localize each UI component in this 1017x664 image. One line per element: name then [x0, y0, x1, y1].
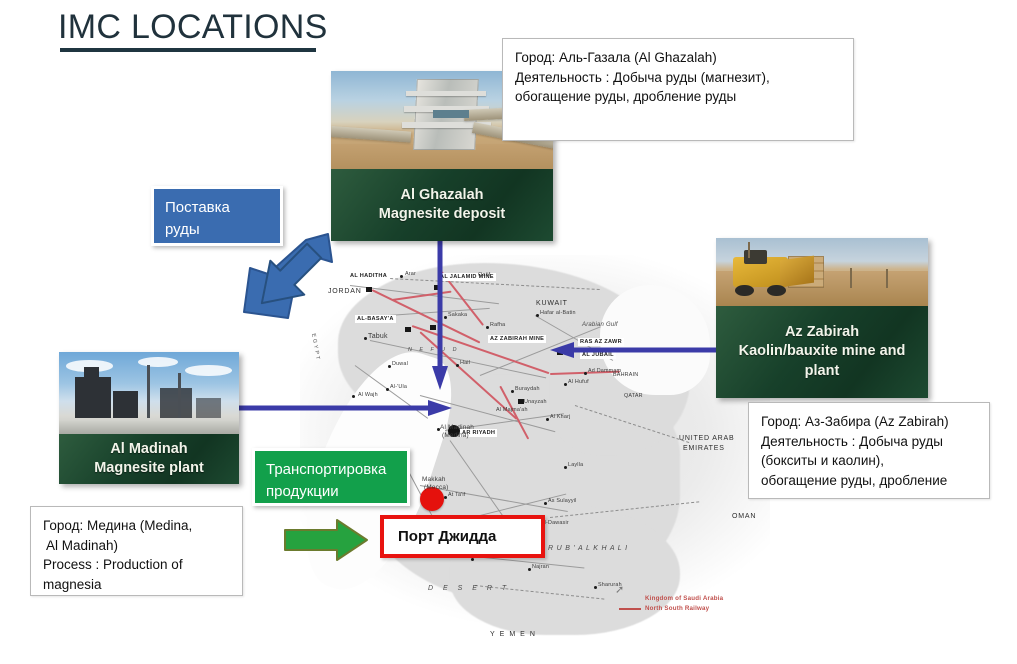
- map-label-city: Najran: [532, 564, 549, 570]
- photo-chimney: [178, 373, 181, 417]
- map-mine-marker: [405, 327, 411, 332]
- port-jeddah-label: Порт Джидда: [398, 528, 496, 545]
- map-label-city: Al-'Ula: [390, 384, 407, 390]
- az-zabirah-label: Az Zabirah Kaolin/bauxite mine and plant: [716, 306, 928, 398]
- callout-line: Process : Production of: [43, 555, 231, 575]
- map-label-mine: AZ ZABIRAH MINE: [488, 335, 546, 343]
- az-zabirah-subtitle2: plant: [805, 362, 840, 381]
- az-zabirah-card: Az Zabirah Kaolin/bauxite mine and plant: [716, 238, 928, 398]
- map-label-city: Al Kharj: [550, 414, 570, 420]
- al-madinah-subtitle: Magnesite plant: [94, 459, 204, 478]
- map-label-mine: AL-BASAY'A: [355, 315, 396, 323]
- al-madinah-card: Al Madinah Magnesite plant: [59, 352, 239, 484]
- legend-railway-label: North South Railway: [645, 605, 723, 612]
- map-city-dot: [471, 558, 474, 561]
- photo-ground: [59, 421, 239, 434]
- map-label-city: Makkah: [422, 476, 446, 483]
- az-zabirah-photo: [716, 238, 928, 306]
- photo-plant-block: [196, 398, 221, 418]
- callout-line: Город: Медина (Medina,: [43, 516, 231, 536]
- az-zabirah-title: Az Zabirah: [785, 323, 859, 342]
- supply-line-2: руды: [165, 219, 269, 241]
- photo-pole: [886, 269, 888, 288]
- callout-line: Деятельность : Добыча руды: [761, 432, 978, 452]
- callout-line: обогащение руды, дробление: [761, 471, 978, 491]
- photo-plant-tower: [84, 367, 98, 380]
- callout-line: Деятельность : Добыча руды (магнезит),: [515, 68, 842, 88]
- photo-cloud: [138, 357, 178, 367]
- legend-railway-swatch: [619, 608, 641, 610]
- map-label-city: At Ta'if: [448, 492, 466, 498]
- map-city-dot: [400, 275, 403, 278]
- map-label-country: EMIRATES: [683, 445, 725, 452]
- map-label-country: QATAR: [624, 393, 643, 399]
- callout-line: обогащение руды, дробление руды: [515, 87, 842, 107]
- callout-line: Город: Аль-Газала (Al Ghazalah): [515, 48, 842, 68]
- map-mine-marker: [366, 287, 372, 292]
- map-label-city: Al Madinah: [440, 424, 474, 431]
- north-arrow-icon: ➚: [615, 583, 624, 596]
- map-label-city: Duwal: [392, 361, 408, 367]
- port-jeddah-box[interactable]: Порт Джидда: [380, 515, 545, 558]
- map-city-dot: [456, 364, 459, 367]
- map-city-dot: [564, 383, 567, 386]
- map-label-country: OMAN: [732, 513, 756, 520]
- map-label-city: (Medina): [442, 432, 469, 439]
- map-label-city: Al Hufuf: [568, 379, 589, 385]
- map-city-dot: [536, 314, 539, 317]
- transport-product-label[interactable]: Транспортировка продукции: [252, 448, 410, 506]
- map-city-dot: [564, 466, 567, 469]
- al-ghazalah-label: Al Ghazalah Magnesite deposit: [331, 169, 553, 241]
- photo-deck: [406, 91, 486, 97]
- map-label-city: Ad Dammam: [588, 368, 621, 374]
- map-label-city: Hail: [460, 360, 470, 366]
- map-label-city: Buraydah: [515, 386, 540, 392]
- title-underline: [60, 48, 316, 52]
- map-city-dot: [364, 337, 367, 340]
- al-madinah-label: Al Madinah Magnesite plant: [59, 434, 239, 484]
- callout-line: Al Madinah): [43, 536, 231, 556]
- map-label-region: D E S E R T: [428, 585, 510, 592]
- legend-country-label: Kingdom of Saudi Arabia: [645, 595, 723, 602]
- transport-line-1: Транспортировка: [266, 459, 396, 481]
- map-city-dot: [544, 502, 547, 505]
- al-ghazalah-subtitle: Magnesite deposit: [379, 205, 506, 224]
- map-city-dot: [584, 372, 587, 375]
- map-city-dot: [444, 496, 447, 499]
- photo-plant-block: [160, 388, 192, 418]
- map-label-region: R U B ' A L K H A L I: [548, 545, 628, 552]
- map-label-city: Arar: [405, 271, 416, 277]
- map-label-country: YEMEN: [490, 631, 540, 638]
- map-label-water: Arabian Gulf: [582, 322, 618, 328]
- photo-detail: [433, 110, 469, 118]
- arrow-map-to-madinah: [238, 398, 452, 418]
- callout-line: magnesia: [43, 575, 231, 595]
- map-city-dot: [594, 586, 597, 589]
- photo-loader-bucket: [780, 256, 814, 288]
- photo-chimney: [147, 365, 150, 417]
- map-label-city: Hafar al-Batin: [540, 310, 576, 316]
- photo-pole: [850, 268, 852, 288]
- map-label-city: Al Majma'ah: [496, 407, 528, 413]
- photo-conveyor: [331, 126, 411, 142]
- map-label-country: KUWAIT: [536, 300, 568, 307]
- callout-line: (бокситы и каолин),: [761, 451, 978, 471]
- transport-line-2: продукции: [266, 481, 396, 503]
- arrow-zabirah-to-map: [548, 340, 724, 360]
- photo-plant-block: [113, 391, 138, 417]
- map-label-city: Qatif: [478, 272, 490, 278]
- photo-pole: [748, 242, 750, 258]
- al-madinah-photo: [59, 352, 239, 434]
- al-madinah-callout: Город: Медина (Medina, Al Madinah) Proce…: [30, 506, 243, 596]
- callout-line: Город: Аз-Забира (Az Zabirah): [761, 412, 978, 432]
- map-label-mine: AL HADITHA: [348, 272, 389, 280]
- map-city-dot: [528, 568, 531, 571]
- al-ghazalah-callout: Город: Аль-Газала (Al Ghazalah) Деятельн…: [502, 38, 854, 141]
- photo-cloud: [185, 365, 232, 376]
- map-city-dot: [486, 326, 489, 329]
- map-label-city: Unayzah: [524, 399, 547, 405]
- map-label-city: Tabuk: [368, 333, 388, 340]
- supply-line-1: Поставка: [165, 197, 269, 219]
- map-label-city: Rafha: [490, 322, 505, 328]
- map-city-dot: [388, 365, 391, 368]
- map-city-dot: [546, 418, 549, 421]
- map-legend: ➚ Kingdom of Saudi Arabia North South Ra…: [645, 595, 723, 612]
- az-zabirah-subtitle: Kaolin/bauxite mine and: [739, 342, 906, 361]
- map-label-city: As Sulayyil: [548, 498, 577, 504]
- al-ghazalah-title: Al Ghazalah: [401, 186, 484, 205]
- az-zabirah-callout: Город: Аз-Забира (Az Zabirah) Деятельнос…: [748, 402, 990, 499]
- transport-arrow-icon: [285, 520, 369, 560]
- supply-arrow-shape: [244, 236, 332, 318]
- photo-plant-block: [75, 377, 111, 418]
- arrow-ghazalah-to-map: [432, 238, 456, 393]
- map-city-dot: [511, 390, 514, 393]
- page-title: IMC LOCATIONS: [58, 8, 328, 47]
- al-madinah-title: Al Madinah: [110, 440, 187, 459]
- supply-ore-label[interactable]: Поставка руды: [151, 186, 283, 246]
- map-label-city: (Mecca): [424, 484, 448, 491]
- map-label-country: UNITED ARAB: [679, 435, 734, 442]
- map-label-city: Laylla: [568, 462, 583, 468]
- map-city-dot: [386, 388, 389, 391]
